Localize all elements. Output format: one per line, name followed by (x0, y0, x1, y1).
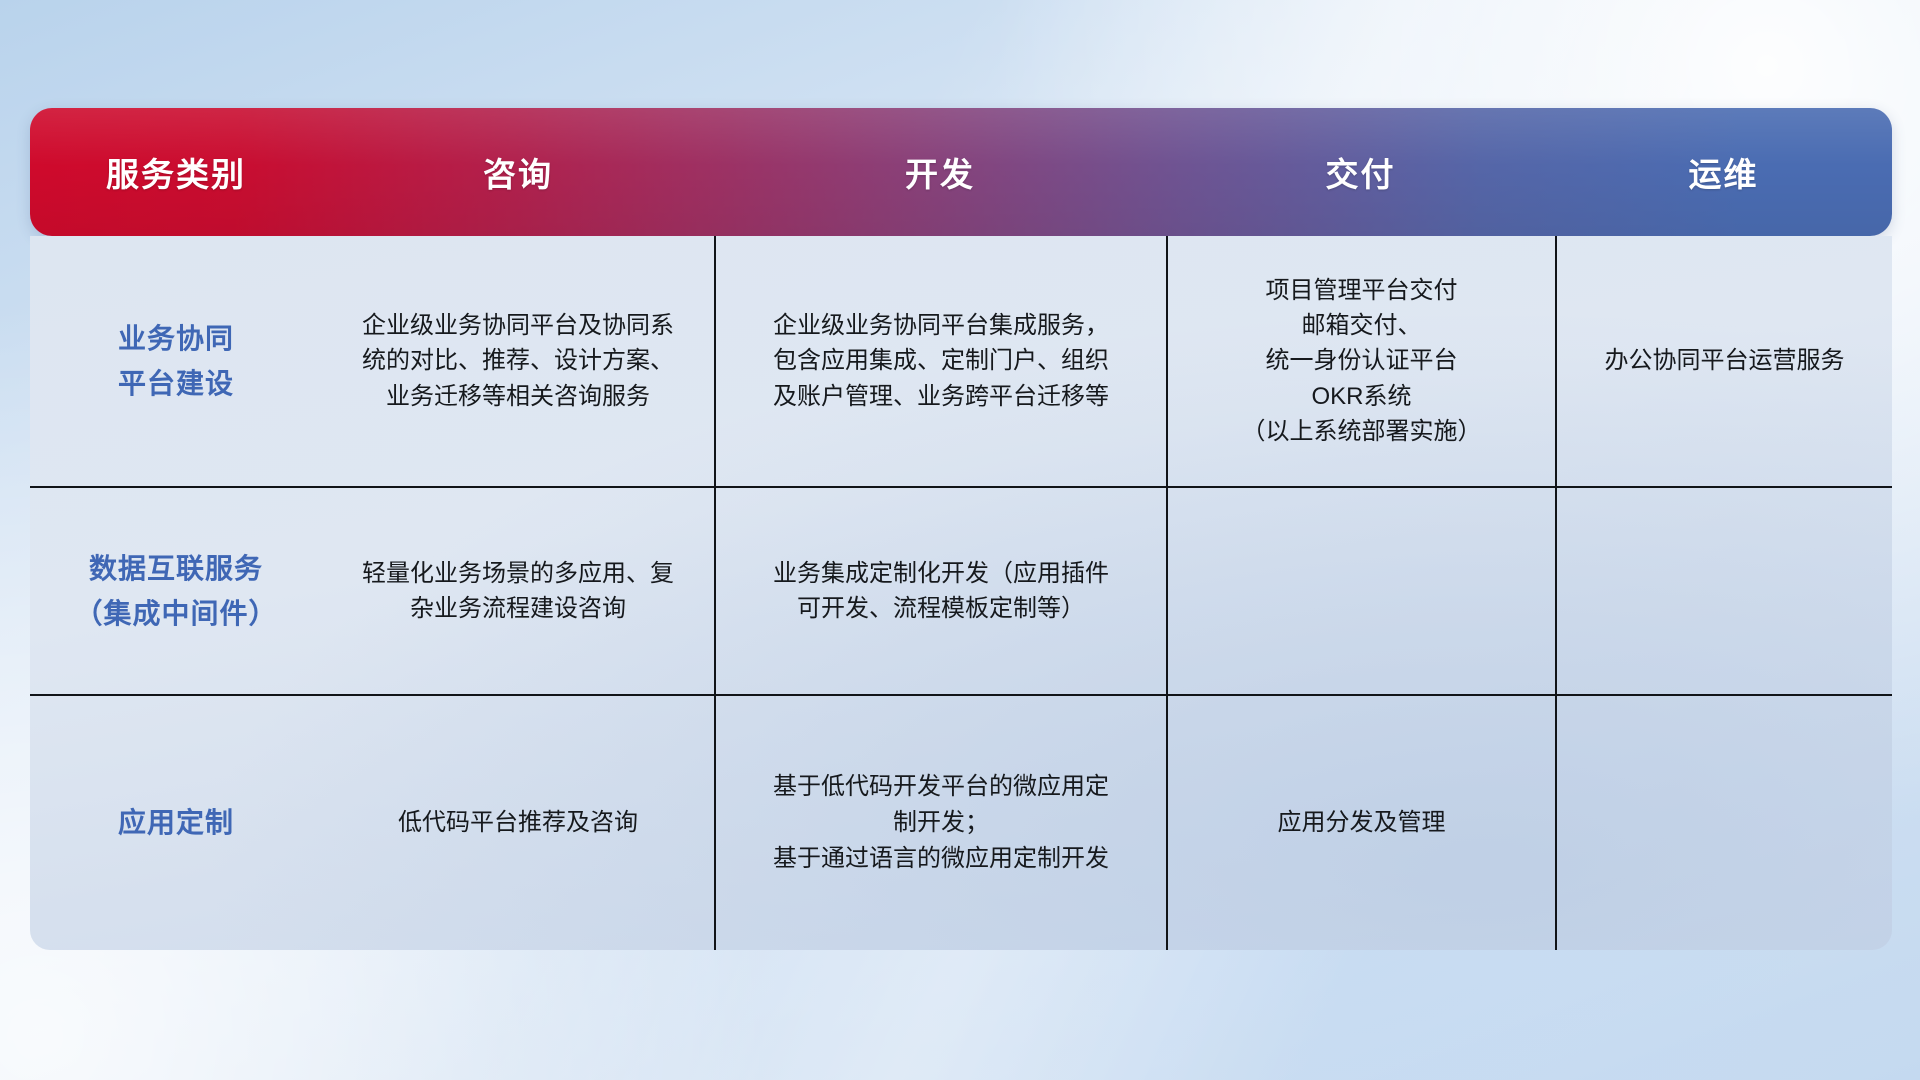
row-category-label: 应用定制 (30, 696, 322, 950)
row-category-label: 数据互联服务 （集成中间件） (30, 488, 322, 694)
cell-delivery: 项目管理平台交付 邮箱交付、 统一身份认证平台 OKR系统 （以上系统部署实施） (1166, 236, 1555, 486)
cell-text: 应用分发及管理 (1278, 805, 1446, 840)
cell-operations (1555, 488, 1892, 694)
column-header-development: 开发 (714, 148, 1166, 196)
cell-text: 办公协同平台运营服务 (1605, 343, 1845, 378)
column-header-delivery: 交付 (1166, 148, 1555, 196)
service-matrix-table: 服务类别 咨询 开发 交付 运维 业务协同 平台建设 企业级业务协同平台及协同系… (30, 108, 1892, 950)
column-header-category: 服务类别 (30, 148, 322, 196)
cell-text: 业务集成定制化开发（应用插件 可开发、流程模板定制等） (773, 556, 1109, 626)
cell-text: 低代码平台推荐及咨询 (398, 805, 638, 840)
cell-text: 项目管理平台交付 邮箱交付、 统一身份认证平台 OKR系统 （以上系统部署实施） (1242, 273, 1482, 448)
table-row: 应用定制 低代码平台推荐及咨询 基于低代码开发平台的微应用定 制开发； 基于通过… (30, 696, 1892, 950)
cell-development: 基于低代码开发平台的微应用定 制开发； 基于通过语言的微应用定制开发 (714, 696, 1166, 950)
cell-operations (1555, 696, 1892, 950)
category-text: 数据互联服务 （集成中间件） (74, 546, 277, 637)
category-text: 应用定制 (118, 800, 234, 845)
table-header-row: 服务类别 咨询 开发 交付 运维 (30, 108, 1892, 236)
row-category-label: 业务协同 平台建设 (30, 236, 322, 486)
cell-delivery (1166, 488, 1555, 694)
cell-text: 基于低代码开发平台的微应用定 制开发； 基于通过语言的微应用定制开发 (773, 769, 1109, 877)
cell-operations: 办公协同平台运营服务 (1555, 236, 1892, 486)
cell-text: 企业级业务协同平台及协同系 统的对比、推荐、设计方案、 业务迁移等相关咨询服务 (362, 308, 674, 413)
table-row: 数据互联服务 （集成中间件） 轻量化业务场景的多应用、复 杂业务流程建设咨询 业… (30, 488, 1892, 696)
cell-text: 企业级业务协同平台集成服务， 包含应用集成、定制门户、组织 及账户管理、业务跨平… (773, 308, 1109, 413)
cell-consulting: 企业级业务协同平台及协同系 统的对比、推荐、设计方案、 业务迁移等相关咨询服务 (322, 236, 714, 486)
table-body: 业务协同 平台建设 企业级业务协同平台及协同系 统的对比、推荐、设计方案、 业务… (30, 236, 1892, 950)
cell-consulting: 轻量化业务场景的多应用、复 杂业务流程建设咨询 (322, 488, 714, 694)
table-row: 业务协同 平台建设 企业级业务协同平台及协同系 统的对比、推荐、设计方案、 业务… (30, 236, 1892, 488)
cell-text: 轻量化业务场景的多应用、复 杂业务流程建设咨询 (362, 556, 674, 626)
cell-consulting: 低代码平台推荐及咨询 (322, 696, 714, 950)
column-header-operations: 运维 (1555, 148, 1892, 196)
cell-development: 业务集成定制化开发（应用插件 可开发、流程模板定制等） (714, 488, 1166, 694)
cell-development: 企业级业务协同平台集成服务， 包含应用集成、定制门户、组织 及账户管理、业务跨平… (714, 236, 1166, 486)
column-header-consulting: 咨询 (322, 148, 714, 196)
cell-delivery: 应用分发及管理 (1166, 696, 1555, 950)
category-text: 业务协同 平台建设 (118, 316, 234, 407)
